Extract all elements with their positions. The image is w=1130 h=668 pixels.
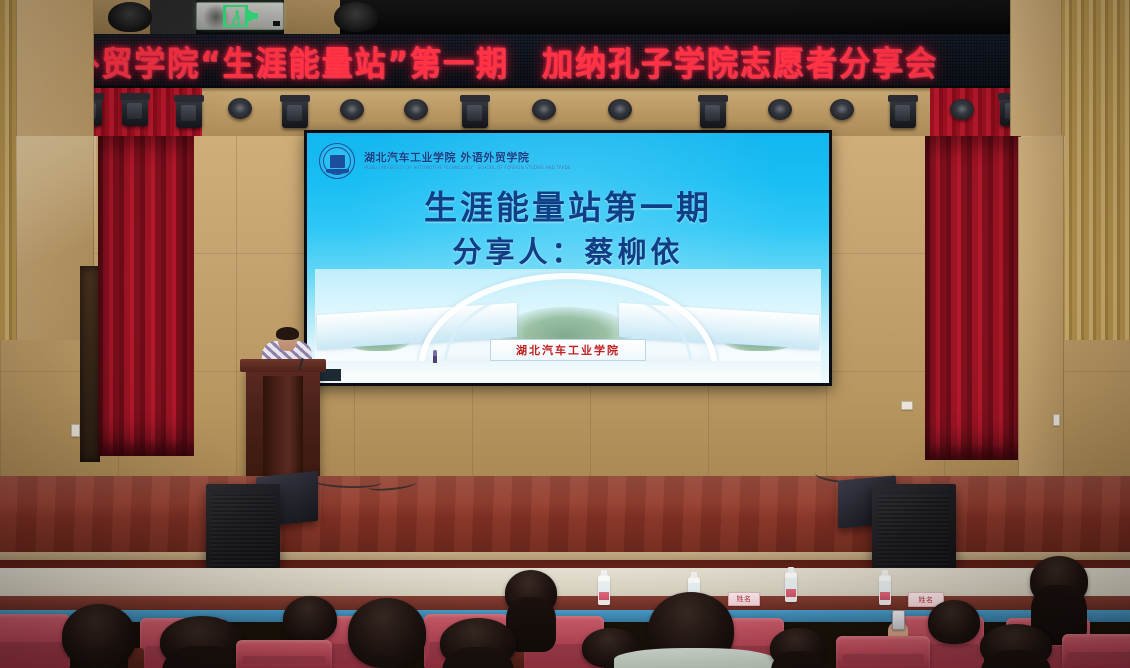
- ceiling-wood-mid: [284, 0, 340, 34]
- exit-glyphs: [223, 5, 258, 27]
- water-bottle: [879, 575, 891, 605]
- placard-text: 姓名: [919, 595, 934, 605]
- wall-outlet: [901, 401, 913, 410]
- gate-ground: [315, 361, 821, 381]
- water-bottle: [785, 572, 797, 602]
- auditorium-photo: 外语外贸学院“生涯能量站”第一期 加纳孔子学院志愿者分享会: [0, 0, 1130, 668]
- projection-screen: 湖北汽车工业学院 外语外贸学院 HUBEI UNIVERSITY OF AUTO…: [304, 130, 832, 386]
- audience-member-12: [980, 624, 1052, 668]
- seat: [836, 636, 930, 668]
- ceiling-speaker-left: [108, 2, 152, 32]
- stage-light: [462, 98, 488, 128]
- stage-light-can: [950, 99, 974, 120]
- audience-member-11: [770, 628, 826, 668]
- stage-light-can: [404, 99, 428, 120]
- stage-light: [890, 98, 916, 128]
- audience-member-5: [62, 604, 136, 668]
- seat: [0, 614, 70, 668]
- wall-outlet: [1053, 414, 1060, 426]
- placard-text: 姓名: [737, 594, 752, 604]
- audience-member-1: [505, 570, 557, 616]
- exit-arrow-icon: [247, 9, 258, 23]
- wall-panel-right-angled: [1018, 135, 1064, 481]
- slide-header: 湖北汽车工业学院 外语外贸学院 HUBEI UNIVERSITY OF AUTO…: [319, 143, 571, 179]
- audience-member-8: [440, 618, 516, 668]
- stage-light-can: [340, 99, 364, 120]
- ceiling-speaker-right: [334, 2, 378, 32]
- gate-pedestrian: [433, 350, 437, 363]
- curtain-hem: [98, 440, 194, 456]
- audience-member-3: [283, 596, 337, 642]
- sign-led: [273, 21, 280, 26]
- gate-name-plaque: 湖北汽车工业学院: [490, 339, 646, 361]
- stage-light-can: [608, 99, 632, 120]
- ceiling-panel: [150, 0, 196, 34]
- led-banner: 外语外贸学院“生涯能量站”第一期 加纳孔子学院志愿者分享会: [0, 34, 1130, 88]
- name-placard: 姓名: [728, 592, 760, 606]
- exit-door-icon: [223, 5, 245, 27]
- stage-light: [700, 98, 726, 128]
- curtain-hem: [925, 444, 1021, 460]
- slide-org-text: 湖北汽车工业学院 外语外贸学院: [364, 151, 529, 164]
- lectern-column: [263, 376, 303, 482]
- stage-light-can: [228, 98, 252, 119]
- presenter-hair: [276, 327, 299, 340]
- slide-org-subtext: HUBEI UNIVERSITY OF AUTOMOTIVE TECHNOLOG…: [364, 166, 571, 171]
- wall-slats-right: [1060, 0, 1130, 340]
- gate-plaque-text: 湖北汽车工业学院: [516, 342, 620, 358]
- stage-light-can: [532, 99, 556, 120]
- seal-core: [330, 155, 345, 168]
- emergency-exit-sign: [196, 2, 284, 30]
- stage-light: [176, 98, 202, 128]
- backstage-doorway: [80, 266, 100, 462]
- running-person-icon: [231, 10, 242, 26]
- seat: [1062, 634, 1130, 668]
- stage-light-can: [830, 99, 854, 120]
- smartphone: [892, 610, 905, 630]
- university-seal-icon: [319, 143, 355, 179]
- audience-member-2: [1030, 556, 1088, 606]
- seat: [236, 640, 332, 668]
- wall-outlet: [71, 424, 80, 437]
- audience-shoulders: [614, 648, 774, 668]
- slide-title: 生涯能量站第一期: [307, 181, 829, 229]
- wall-slats-left: [0, 0, 16, 340]
- stage-light: [122, 96, 148, 126]
- stage-curtain-right: [925, 136, 1021, 460]
- stage-light-can: [768, 99, 792, 120]
- stage-curtain-left: [98, 136, 194, 456]
- lectern-top: [240, 359, 326, 372]
- stage-light: [282, 98, 308, 128]
- audience-member-6: [160, 616, 244, 668]
- banner-text: 外语外贸学院“生涯能量站”第一期 加纳孔子学院志愿者分享会: [0, 36, 938, 85]
- campus-gate-photo: 湖北汽车工业学院: [315, 269, 821, 381]
- lectern: [246, 366, 320, 482]
- presentation-slide: 湖北汽车工业学院 外语外贸学院 HUBEI UNIVERSITY OF AUTO…: [307, 133, 829, 383]
- eyeglasses: [636, 636, 662, 643]
- slide-org-line: 湖北汽车工业学院 外语外贸学院 HUBEI UNIVERSITY OF AUTO…: [364, 152, 571, 170]
- audience-member-4: [928, 600, 980, 644]
- slide-subtitle: 分享人：蔡柳依: [307, 229, 829, 271]
- audience-member-7: [348, 598, 426, 668]
- water-bottle: [598, 575, 610, 605]
